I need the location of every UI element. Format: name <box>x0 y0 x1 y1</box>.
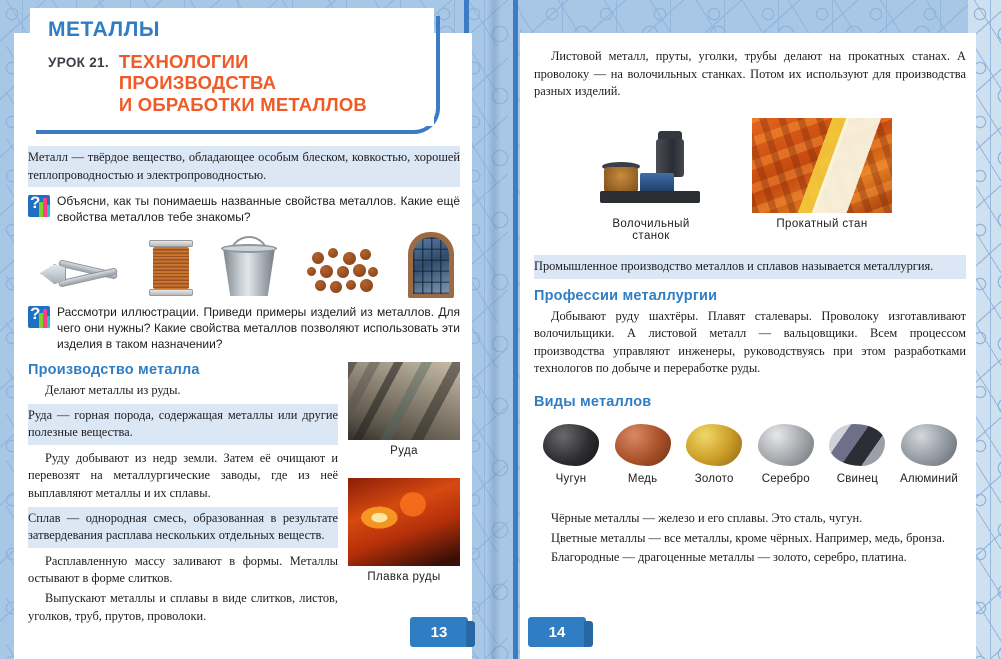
spool-copper-coil <box>153 247 189 289</box>
definition-metallurgy: Промышленное производство металлов и спл… <box>534 255 966 279</box>
metal-sample-item: Серебро <box>751 424 821 485</box>
window-grating-illustration <box>408 232 454 298</box>
paragraph: Расплавленную массу заливают в формы. Ме… <box>28 553 338 588</box>
illustration-row <box>34 232 454 298</box>
page-number-right: 14 <box>528 617 586 647</box>
bucket-body <box>223 248 275 296</box>
paragraph: Руду добывают из недр земли. Затем её оч… <box>28 450 338 503</box>
section-heading-kinds: Виды металлов <box>534 394 966 410</box>
question-block-2: ? Рассмотри иллюстрации. Приведи примеры… <box>28 305 460 353</box>
definition-alloy: Сплав — однородная смесь, образованная в… <box>28 507 338 548</box>
aluminium-sample-image <box>901 424 957 466</box>
paragraph: Добывают руду шахтёры. Плавят сталевары.… <box>534 308 966 378</box>
photo-caption: Волочильный станок <box>596 218 706 242</box>
copper-sample-image <box>615 424 671 466</box>
pencil-cyan-icon <box>47 205 50 217</box>
question-block-1: ? Объясни, как ты понимаешь названные св… <box>28 194 460 226</box>
metal-sample-item: Свинец <box>822 424 892 485</box>
photo-caption: Плавка руды <box>348 571 460 583</box>
paragraph: Благородные — драгоценные металлы — золо… <box>534 549 966 567</box>
pencil-cyan-icon <box>47 316 50 328</box>
pliers-illustration <box>34 248 120 298</box>
paragraph: Чёрные металлы — железо и его сплавы. Эт… <box>534 510 966 528</box>
page-title-line-3: И ОБРАБОТКИ МЕТАЛЛОВ <box>119 94 367 115</box>
paragraph: Листовой металл, пруты, уголки, трубы де… <box>534 48 966 101</box>
photo-caption: Руда <box>348 445 460 457</box>
lesson-number: УРОК 21. <box>48 51 109 70</box>
definition-ore: Руда — горная порода, содержащая металлы… <box>28 404 338 445</box>
photo-caption: Прокатный стан <box>752 218 892 230</box>
machine-copper-drum <box>604 167 638 193</box>
question-text: Рассмотри иллюстрации. Приведи примеры и… <box>57 305 460 353</box>
right-page-content: Листовой металл, пруты, уголки, трубы де… <box>534 48 966 103</box>
section-heading-professions: Профессии металлургии <box>534 288 966 304</box>
spool-flange-bottom <box>149 289 193 296</box>
question-icon: ? <box>28 306 50 328</box>
spool-flange-top <box>149 240 193 247</box>
pliers-head <box>40 264 66 284</box>
photo-rolling-mill-block: Прокатный стан <box>752 118 892 230</box>
metal-sample-item: Чугун <box>536 424 606 485</box>
question-icon: ? <box>28 195 50 217</box>
subject-title: МЕТАЛЛЫ <box>48 18 434 42</box>
metal-label: Медь <box>608 473 678 485</box>
gold-sample-image <box>686 424 742 466</box>
question-text: Объясни, как ты понимаешь названные свой… <box>57 194 460 226</box>
definition-metal: Металл — твёрдое вещество, обладающее ос… <box>28 146 460 187</box>
metal-bucket-illustration <box>221 240 277 298</box>
metal-label: Свинец <box>822 473 892 485</box>
gutter-shadow <box>487 0 501 659</box>
photo-wire-drawing-machine <box>596 123 706 213</box>
photo-ore-melting <box>348 478 460 566</box>
metal-sample-item: Алюминий <box>894 424 964 485</box>
copper-coins-illustration <box>306 246 380 298</box>
lesson-header: МЕТАЛЛЫ УРОК 21. ТЕХНОЛОГИИ ПРОИЗВОДСТВА… <box>30 8 434 126</box>
gutter-edge-right <box>513 0 518 659</box>
photo-ore-block: Руда <box>348 362 460 457</box>
right-page-bottom-text: Чёрные металлы — железо и его сплавы. Эт… <box>534 510 966 569</box>
metal-label: Золото <box>679 473 749 485</box>
lead-sample-image <box>829 424 885 466</box>
photo-rolling-mill <box>752 118 892 213</box>
paragraph: Выпускают металлы и сплавы в виде слитко… <box>28 590 338 625</box>
page-title: ТЕХНОЛОГИИ ПРОИЗВОДСТВА И ОБРАБОТКИ МЕТА… <box>119 51 367 115</box>
window-glass-grating <box>413 237 449 294</box>
machine-base <box>600 191 700 203</box>
metal-label: Чугун <box>536 473 606 485</box>
page-title-line-2: ПРОИЗВОДСТВА <box>119 72 367 93</box>
page-title-line-1: ТЕХНОЛОГИИ <box>119 51 367 72</box>
machine-motor <box>656 139 684 177</box>
page-number-left: 13 <box>410 617 468 647</box>
paragraph: Цветные металлы — все металлы, кроме чёр… <box>534 530 966 548</box>
paragraph: Делают металлы из руды. <box>28 382 338 400</box>
right-page-lower-content: Промышленное производство металлов и спл… <box>534 251 966 414</box>
textbook-spread: МЕТАЛЛЫ УРОК 21. ТЕХНОЛОГИИ ПРОИЗВОДСТВА… <box>0 0 1001 659</box>
metal-sample-item: Медь <box>608 424 678 485</box>
photo-melting-block: Плавка руды <box>348 478 460 583</box>
metal-label: Алюминий <box>894 473 964 485</box>
machine-gearbox <box>640 173 674 193</box>
photo-drawing-machine-block: Волочильный станок <box>596 123 706 242</box>
photo-ore <box>348 362 460 440</box>
metal-samples-row: Чугун Медь Золото Серебро Свинец Алюмини… <box>536 424 964 485</box>
metal-label: Серебро <box>751 473 821 485</box>
cast-iron-sample-image <box>543 424 599 466</box>
copper-wire-spool-illustration <box>149 238 193 298</box>
silver-sample-image <box>758 424 814 466</box>
metal-sample-item: Золото <box>679 424 749 485</box>
